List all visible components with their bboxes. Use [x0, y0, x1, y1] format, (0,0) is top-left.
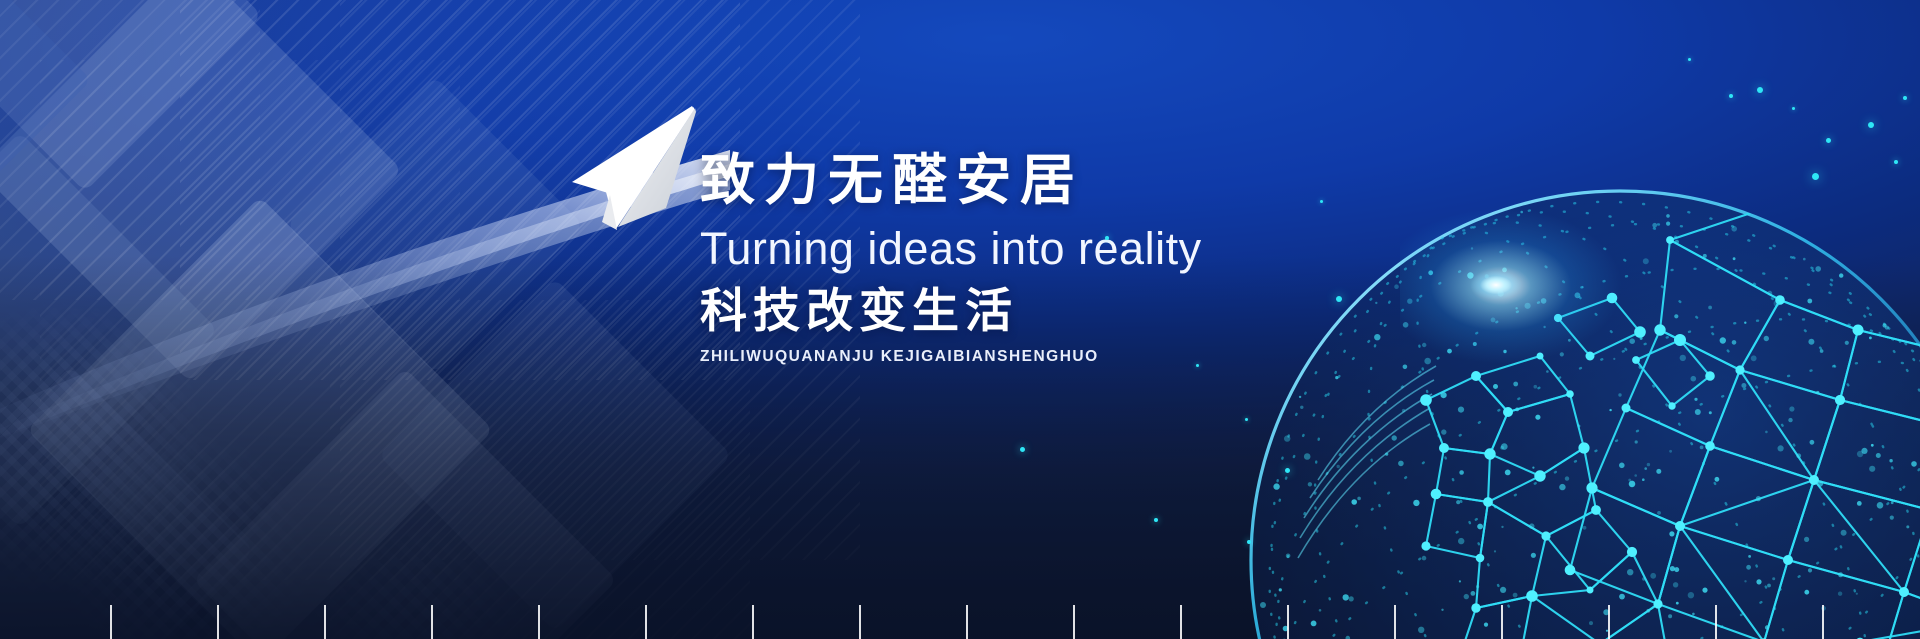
particle-dot: [1154, 518, 1158, 522]
banner-copy: 致力无醛安居 Turning ideas into reality 科技改变生活…: [700, 150, 1460, 366]
pinyin-caption: ZHILIWUQUANANJU KEJIGAIBIANSHENGHUO: [700, 348, 1460, 366]
hero-banner: 致力无醛安居 Turning ideas into reality 科技改变生活…: [0, 0, 1920, 639]
paper-plane-icon: [544, 96, 704, 246]
decor-square: [0, 0, 402, 382]
tick-mark: [752, 605, 754, 639]
particle-dot: [1757, 87, 1763, 93]
decor-square: [0, 366, 254, 639]
particle-dot: [1688, 58, 1691, 61]
decor-square: [193, 368, 617, 639]
tick-mark: [217, 605, 219, 639]
tick-mark: [1394, 605, 1396, 639]
page-title: 致力无醛安居: [700, 150, 1460, 212]
diagonal-stripes: [40, 60, 460, 580]
tick-mark: [431, 605, 433, 639]
tick-mark: [966, 605, 968, 639]
globe-glow: [1400, 185, 1820, 545]
particle-dot: [1285, 468, 1290, 473]
particle-dot: [1868, 122, 1874, 128]
tick-mark: [859, 605, 861, 639]
tick-mark: [110, 605, 112, 639]
particle-dot: [1792, 107, 1795, 110]
particle-dot: [1903, 96, 1907, 100]
tagline-english: Turning ideas into reality: [700, 222, 1460, 276]
decor-square: [0, 0, 91, 221]
particle-dot: [1894, 160, 1898, 164]
particle-dot: [1245, 418, 1248, 421]
tick-mark: [324, 605, 326, 639]
particle-dot: [1247, 540, 1251, 544]
tick-mark: [1180, 605, 1182, 639]
tick-mark: [1287, 605, 1289, 639]
decor-square: [287, 77, 584, 374]
particle-dot: [1020, 447, 1025, 452]
particle-dot: [1812, 173, 1819, 180]
halftone-pattern: [6, 376, 374, 639]
tick-mark: [1822, 605, 1824, 639]
halftone-pattern: [0, 238, 272, 639]
tick-mark: [645, 605, 647, 639]
bottom-tick-ruler: [0, 605, 1920, 639]
tick-mark: [1501, 605, 1503, 639]
tick-mark: [1715, 605, 1717, 639]
decor-square: [378, 278, 732, 632]
subheadline-chinese: 科技改变生活: [700, 284, 1460, 338]
decor-square: [27, 197, 494, 639]
decor-square: [0, 0, 262, 192]
particle-dot: [1826, 138, 1831, 143]
tick-mark: [1073, 605, 1075, 639]
diagonal-stripes: [330, 300, 750, 639]
diagonal-stripes: [0, 0, 260, 300]
tick-mark: [538, 605, 540, 639]
halftone-pattern: [252, 472, 577, 639]
particle-dot: [1729, 94, 1733, 98]
lens-flare-icon: [1470, 270, 1522, 300]
decor-square: [0, 132, 218, 528]
tick-mark: [1608, 605, 1610, 639]
